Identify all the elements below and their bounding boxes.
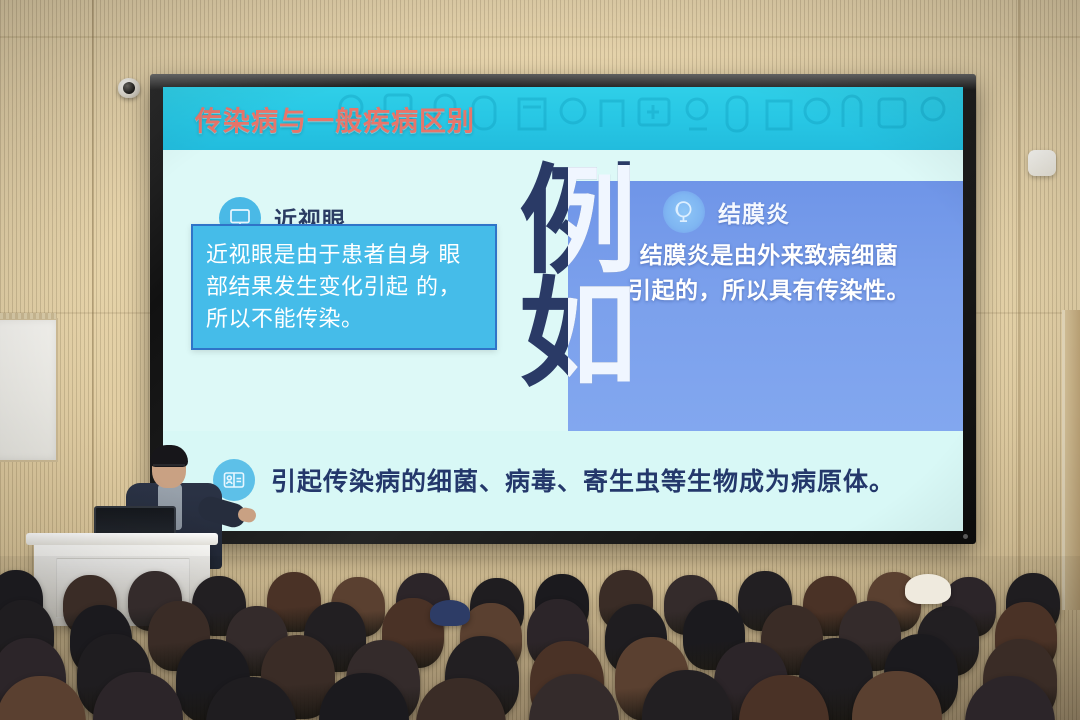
slide-title: 传染病与一般疾病区别 bbox=[195, 99, 475, 138]
wall-camera-icon bbox=[118, 78, 140, 98]
footer-row: 引起传染病的细菌、病毒、寄生虫等生物成为病原体。 bbox=[213, 459, 895, 501]
audience-cap bbox=[430, 600, 470, 626]
whiteboard bbox=[0, 318, 58, 462]
wall-seam bbox=[0, 36, 1080, 38]
right-item-label: 结膜炎 bbox=[718, 195, 790, 229]
wall-seam bbox=[92, 0, 94, 556]
projection-screen-bezel: 传染病与一般疾病区别 近视眼 近视眼是由于患者自身 眼部结果发生变化引起 的，所… bbox=[150, 74, 976, 544]
left-text-line: 近视眼是由于患者自身 bbox=[206, 243, 431, 268]
left-text-box: 近视眼是由于患者自身 眼部结果发生变化引起 的，所以不能传染。 bbox=[191, 224, 497, 350]
wall-seam bbox=[1018, 0, 1020, 620]
wall-speaker-icon bbox=[1028, 150, 1056, 176]
right-item-heading: 结膜炎 bbox=[663, 191, 790, 233]
right-text-line: 结膜炎是由外来致病细菌 bbox=[583, 239, 955, 274]
audience-cap bbox=[905, 574, 951, 604]
slide-footer-band: 引起传染病的细菌、病毒、寄生虫等生物成为病原体。 bbox=[163, 431, 963, 531]
audience-seated-rows bbox=[0, 556, 1080, 720]
screenshot-root: 传染病与一般疾病区别 近视眼 近视眼是由于患者自身 眼部结果发生变化引起 的，所… bbox=[0, 0, 1080, 720]
right-text-line: 引起的，所以具有传染性。 bbox=[583, 274, 955, 309]
presentation-slide: 传染病与一般疾病区别 近视眼 近视眼是由于患者自身 眼部结果发生变化引起 的，所… bbox=[163, 87, 963, 531]
glasses-icon bbox=[153, 464, 185, 473]
bezel-indicator-led bbox=[963, 534, 968, 539]
podium-top bbox=[26, 533, 218, 545]
slide-header: 传染病与一般疾病区别 bbox=[163, 87, 963, 150]
footer-text: 引起传染病的细菌、病毒、寄生虫等生物成为病原体。 bbox=[271, 462, 895, 498]
globe-stand-icon bbox=[663, 191, 705, 233]
right-text-block: 结膜炎是由外来致病细菌 引起的，所以具有传染性。 bbox=[583, 239, 955, 308]
